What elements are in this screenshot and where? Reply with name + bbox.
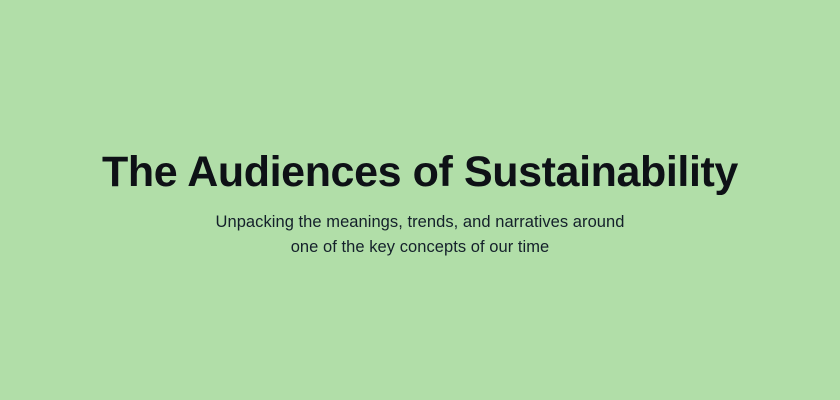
page-title: The Audiences of Sustainability: [102, 149, 738, 196]
page-subtitle: Unpacking the meanings, trends, and narr…: [216, 210, 625, 260]
hero-text-block: The Audiences of Sustainability Unpackin…: [0, 149, 840, 260]
hero-banner: The Audiences of Sustainability Unpackin…: [0, 0, 840, 400]
page-subtitle-line-2: one of the key concepts of our time: [216, 235, 625, 260]
page-subtitle-line-1: Unpacking the meanings, trends, and narr…: [216, 210, 625, 235]
